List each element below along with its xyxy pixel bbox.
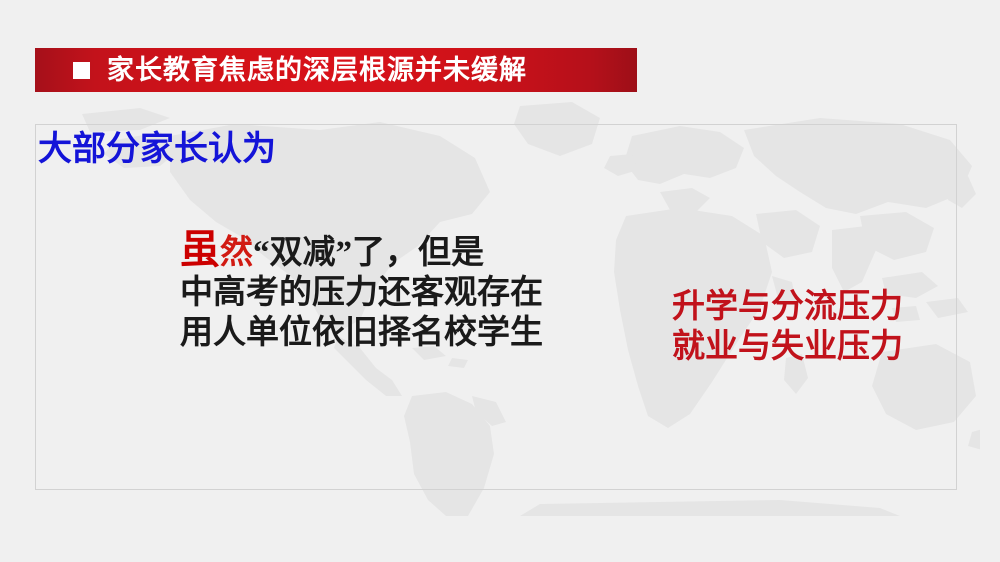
statement-line-1-rest: “双减”了，但是: [253, 235, 484, 271]
slide-canvas: 家长教育焦虑的深层根源并未缓解 大部分家长认为 虽然“双减”了，但是 中高考的压…: [0, 0, 1000, 562]
right-pressure-block: 升学与分流压力 就业与失业压力: [672, 286, 903, 366]
slide-title-banner: 家长教育焦虑的深层根源并未缓解: [35, 48, 637, 92]
statement-line-2: 中高考的压力还客观存在: [180, 273, 543, 313]
slide-title-text: 家长教育焦虑的深层根源并未缓解: [107, 57, 527, 84]
subheading: 大部分家长认为: [38, 131, 276, 168]
emphasis-char-big: 虽: [180, 228, 220, 272]
emphasis-char-small: 然: [220, 233, 253, 270]
statement-line-1: 虽然“双减”了，但是: [180, 228, 543, 273]
pressure-line-2: 就业与失业压力: [672, 326, 903, 366]
white-square-bullet-icon: [73, 62, 90, 79]
pressure-line-1: 升学与分流压力: [672, 286, 903, 326]
statement-line-3: 用人单位依旧择名校学生: [180, 313, 543, 353]
left-text-block: 虽然“双减”了，但是 中高考的压力还客观存在 用人单位依旧择名校学生: [180, 228, 543, 353]
